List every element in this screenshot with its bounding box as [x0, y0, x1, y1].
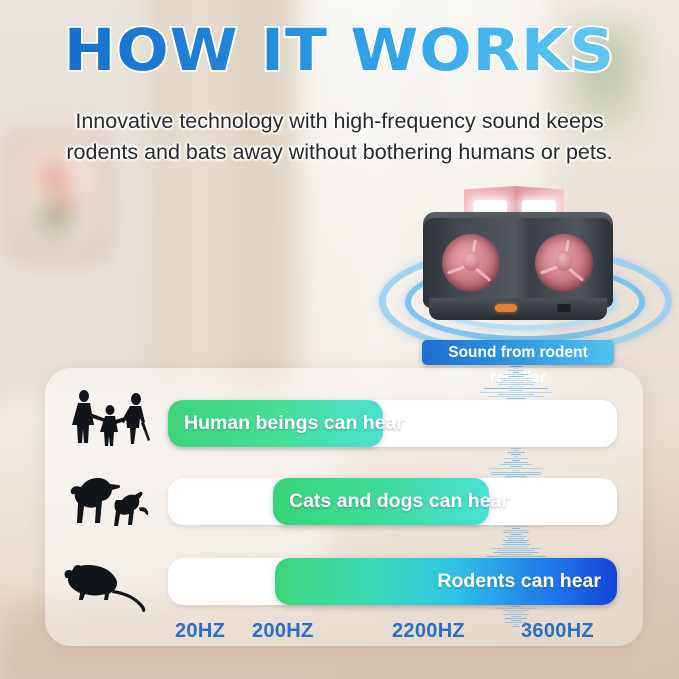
usb-c-port-icon — [495, 304, 517, 312]
axis-tick-2200hz: 2200HZ — [392, 620, 465, 643]
device-side-button[interactable] — [557, 304, 571, 312]
speaker-cone-icon — [442, 234, 500, 292]
page-subtitle: Innovative technology with high-frequenc… — [40, 106, 639, 167]
rodent-repeller-device — [415, 186, 621, 336]
bar-pets-hearing[interactable]: Cats and dogs can hear — [273, 478, 489, 525]
axis-tick-20hz: 20HZ — [175, 620, 225, 643]
status-badge: Sound from rodent repeller — [422, 340, 614, 365]
bar-label-human: Human beings can hear — [184, 412, 404, 435]
cone-hub — [463, 251, 480, 271]
family-silhouette-icon — [60, 388, 160, 450]
leaf-shape — [35, 208, 75, 230]
dog-cat-silhouette-icon — [60, 468, 160, 530]
bar-label-pets: Cats and dogs can hear — [289, 490, 509, 513]
bar-rodents-hearing[interactable]: Rodents can hear — [275, 558, 617, 605]
rose-bottom — [53, 194, 75, 212]
cone-hub — [556, 251, 573, 271]
rodent-silhouette-icon — [58, 552, 158, 614]
page-title-fill: HOW IT WORKS — [0, 21, 679, 79]
device-base — [429, 298, 607, 320]
bar-human-hearing[interactable]: Human beings can hear — [168, 400, 383, 447]
infographic-canvas: HOW IT WORKS HOW IT WORKS Innovative tec… — [0, 0, 679, 679]
axis-tick-200hz: 200HZ — [252, 620, 314, 643]
bar-label-rodents: Rodents can hear — [437, 570, 601, 593]
axis-tick-3600hz: 3600HZ — [521, 620, 594, 643]
speaker-cone-icon — [535, 234, 593, 292]
